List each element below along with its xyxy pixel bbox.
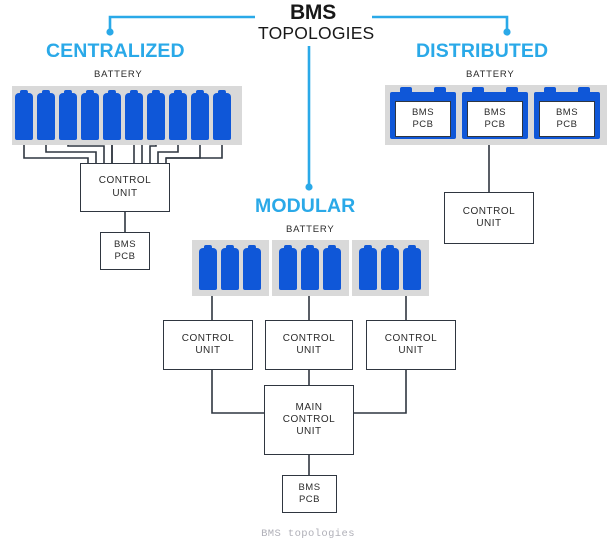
battery-label-centralized: BATTERY	[94, 69, 143, 80]
figure-caption: BMS topologies	[0, 528, 616, 540]
battery-cell	[359, 248, 377, 290]
battery-label-modular: BATTERY	[286, 224, 335, 235]
battery-cell	[103, 93, 121, 140]
battery-cell	[243, 248, 261, 290]
battery-cell	[15, 93, 33, 140]
control-unit-line-1: CONTROL	[99, 175, 151, 186]
battery-cell	[199, 248, 217, 290]
battery-cell	[221, 248, 239, 290]
bms-line-2: PCB	[114, 251, 135, 262]
battery-cell	[147, 93, 165, 140]
battery-terminal-icon	[578, 87, 590, 93]
box-bms-pcb-distributed-3[interactable]: BMS PCB	[539, 101, 595, 137]
bms-line-2: PCB	[484, 119, 505, 130]
control-unit-line-1: CONTROL	[283, 333, 335, 344]
control-unit-line-1: CONTROL	[463, 206, 515, 217]
bms-line-1: BMS	[484, 107, 506, 118]
battery-terminal-icon	[544, 87, 556, 93]
battery-cell	[381, 248, 399, 290]
battery-cell	[125, 93, 143, 140]
box-control-unit-distributed[interactable]: CONTROL UNIT	[444, 192, 534, 244]
battery-cell	[403, 248, 421, 290]
box-main-control-unit-modular[interactable]: MAIN CONTROL UNIT	[264, 385, 354, 455]
topology-heading-centralized: CENTRALIZED	[46, 40, 185, 63]
control-unit-line-2: UNIT	[112, 188, 137, 199]
battery-cell	[59, 93, 77, 140]
battery-terminal-icon	[434, 87, 446, 93]
box-control-unit-modular-3[interactable]: CONTROL UNIT	[366, 320, 456, 370]
control-unit-line-1: CONTROL	[182, 333, 234, 344]
battery-cell	[213, 93, 231, 140]
topology-heading-modular: MODULAR	[255, 195, 355, 218]
main-control-unit-line-1: MAIN	[296, 402, 323, 413]
control-unit-line-2: UNIT	[195, 345, 220, 356]
battery-label-distributed: BATTERY	[466, 69, 515, 80]
main-control-unit-line-2: CONTROL	[283, 414, 335, 425]
control-unit-line-2: UNIT	[476, 218, 501, 229]
control-unit-line-2: UNIT	[296, 345, 321, 356]
title-line-1: BMS	[258, 2, 368, 24]
bms-line-2: PCB	[556, 119, 577, 130]
battery-terminal-icon	[506, 87, 518, 93]
box-bms-pcb-distributed-1[interactable]: BMS PCB	[395, 101, 451, 137]
battery-terminal-icon	[400, 87, 412, 93]
box-bms-pcb-centralized[interactable]: BMS PCB	[100, 232, 150, 270]
bms-line-1: BMS	[114, 239, 136, 250]
battery-cell	[37, 93, 55, 140]
box-bms-pcb-distributed-2[interactable]: BMS PCB	[467, 101, 523, 137]
box-control-unit-modular-2[interactable]: CONTROL UNIT	[265, 320, 353, 370]
battery-cell	[279, 248, 297, 290]
battery-cell	[191, 93, 209, 140]
box-control-unit-centralized[interactable]: CONTROL UNIT	[80, 163, 170, 212]
bms-line-1: BMS	[298, 482, 320, 493]
battery-cell	[323, 248, 341, 290]
bms-line-2: PCB	[299, 494, 320, 505]
diagram-canvas: BMS TOPOLOGIES CENTRALIZED BATTERY CONTR…	[0, 0, 616, 549]
battery-cell	[169, 93, 187, 140]
battery-cell	[301, 248, 319, 290]
battery-cell	[81, 93, 99, 140]
box-control-unit-modular-1[interactable]: CONTROL UNIT	[163, 320, 253, 370]
bms-line-2: PCB	[412, 119, 433, 130]
bms-line-1: BMS	[412, 107, 434, 118]
title-line-2: TOPOLOGIES	[258, 24, 368, 42]
topology-heading-distributed: DISTRIBUTED	[416, 40, 548, 63]
battery-terminal-icon	[472, 87, 484, 93]
box-bms-pcb-modular[interactable]: BMS PCB	[282, 475, 337, 513]
main-control-unit-line-3: UNIT	[296, 426, 321, 437]
page-title: BMS TOPOLOGIES	[258, 2, 368, 42]
control-unit-line-2: UNIT	[398, 345, 423, 356]
control-unit-line-1: CONTROL	[385, 333, 437, 344]
bms-line-1: BMS	[556, 107, 578, 118]
